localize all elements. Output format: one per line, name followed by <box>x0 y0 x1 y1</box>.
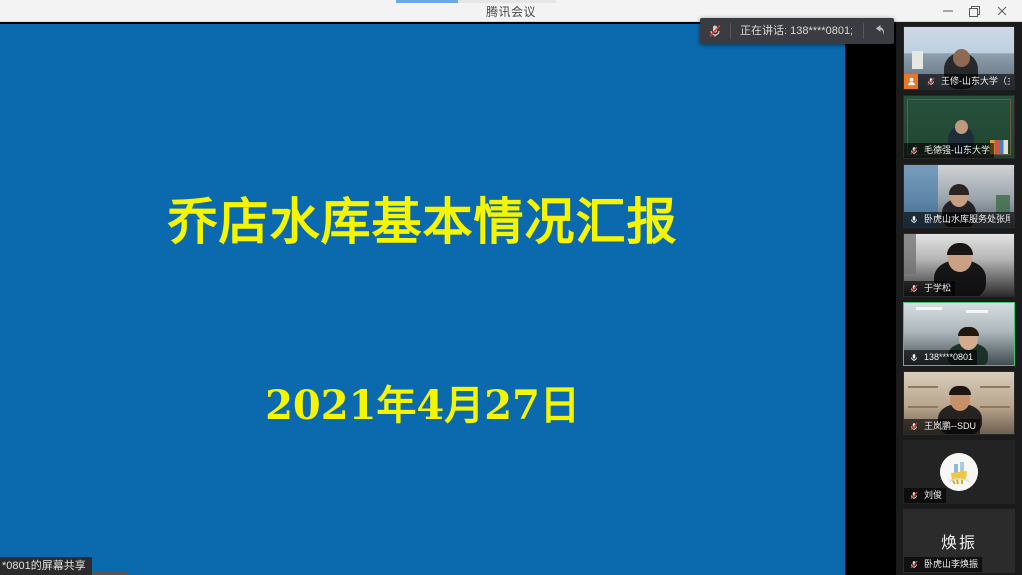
participant-label: 卧虎山水库服务处张厚芹 <box>904 212 1014 227</box>
host-badge-icon <box>904 74 918 89</box>
participant-name: 王修-山东大学（主… <box>941 74 1010 89</box>
mic-on-icon <box>904 212 921 227</box>
meeting-window: 腾讯会议 乔店水库基本情况汇报 <box>0 0 1022 575</box>
participant-name: 138****0801 <box>924 350 973 365</box>
mic-on-icon <box>904 350 921 365</box>
participant-name: 卧虎山李焕振 <box>924 557 978 572</box>
presentation-slide: 乔店水库基本情况汇报 2021年4月27日 <box>0 24 845 575</box>
mic-muted-icon <box>904 557 921 572</box>
participant-label: 于学松 <box>904 281 955 296</box>
participant-tile[interactable]: 138****0801 <box>903 302 1015 366</box>
mic-muted-icon <box>904 281 921 296</box>
slide-title: 乔店水库基本情况汇报 <box>0 197 845 247</box>
participant-tile[interactable]: 焕振 卧虎山李焕振 <box>903 509 1015 573</box>
participant-tile[interactable]: 刘俊 <box>903 440 1015 504</box>
close-button[interactable] <box>990 0 1014 21</box>
minimize-button[interactable] <box>936 0 960 21</box>
maximize-button[interactable] <box>962 0 986 21</box>
participant-name: 王岚鹏--SDU <box>924 419 976 434</box>
initials-text: 焕振 <box>941 529 977 553</box>
participant-label: 138****0801 <box>904 350 977 365</box>
participant-label: 卧虎山李焕振 <box>904 557 982 572</box>
mic-muted-icon <box>921 74 938 89</box>
participant-tile[interactable]: 王修-山东大学（主… <box>903 26 1015 90</box>
shared-screen-stage[interactable]: 乔店水库基本情况汇报 2021年4月27日 *0801的屏幕共享 <box>0 22 896 575</box>
mic-muted-icon <box>904 488 921 503</box>
back-arrow-icon[interactable] <box>864 18 894 44</box>
participant-tile[interactable]: 于学松 <box>903 233 1015 297</box>
share-status-text: *0801的屏幕共享 <box>2 560 86 572</box>
avatar <box>940 453 978 491</box>
participant-filmstrip[interactable]: 王修-山东大学（主… 毛德强-山东大学 <box>896 22 1022 575</box>
participant-tile[interactable]: 卧虎山水库服务处张厚芹 <box>903 164 1015 228</box>
participant-name: 于学松 <box>924 281 951 296</box>
participant-label: 毛德强-山东大学 <box>904 143 994 158</box>
participant-name: 毛德强-山东大学 <box>924 143 990 158</box>
participant-tile[interactable]: 王岚鹏--SDU <box>903 371 1015 435</box>
share-status-bar: *0801的屏幕共享 <box>0 557 92 575</box>
speaking-toast[interactable]: 正在讲话: 138****0801; <box>700 18 894 44</box>
participant-label: 王岚鹏--SDU <box>904 419 980 434</box>
participant-tile[interactable]: 毛德强-山东大学 <box>903 95 1015 159</box>
participant-label: 王修-山东大学（主… <box>904 74 1014 89</box>
participant-name: 卧虎山水库服务处张厚芹 <box>924 212 1010 227</box>
slide-date: 2021年4月27日 <box>0 386 845 426</box>
speaking-text: 正在讲话: 138****0801; <box>731 18 863 44</box>
participant-label: 刘俊 <box>904 488 946 503</box>
mic-muted-icon <box>904 419 921 434</box>
mic-muted-icon[interactable] <box>700 18 730 44</box>
mic-muted-icon <box>904 143 921 158</box>
participant-name: 刘俊 <box>924 488 942 503</box>
